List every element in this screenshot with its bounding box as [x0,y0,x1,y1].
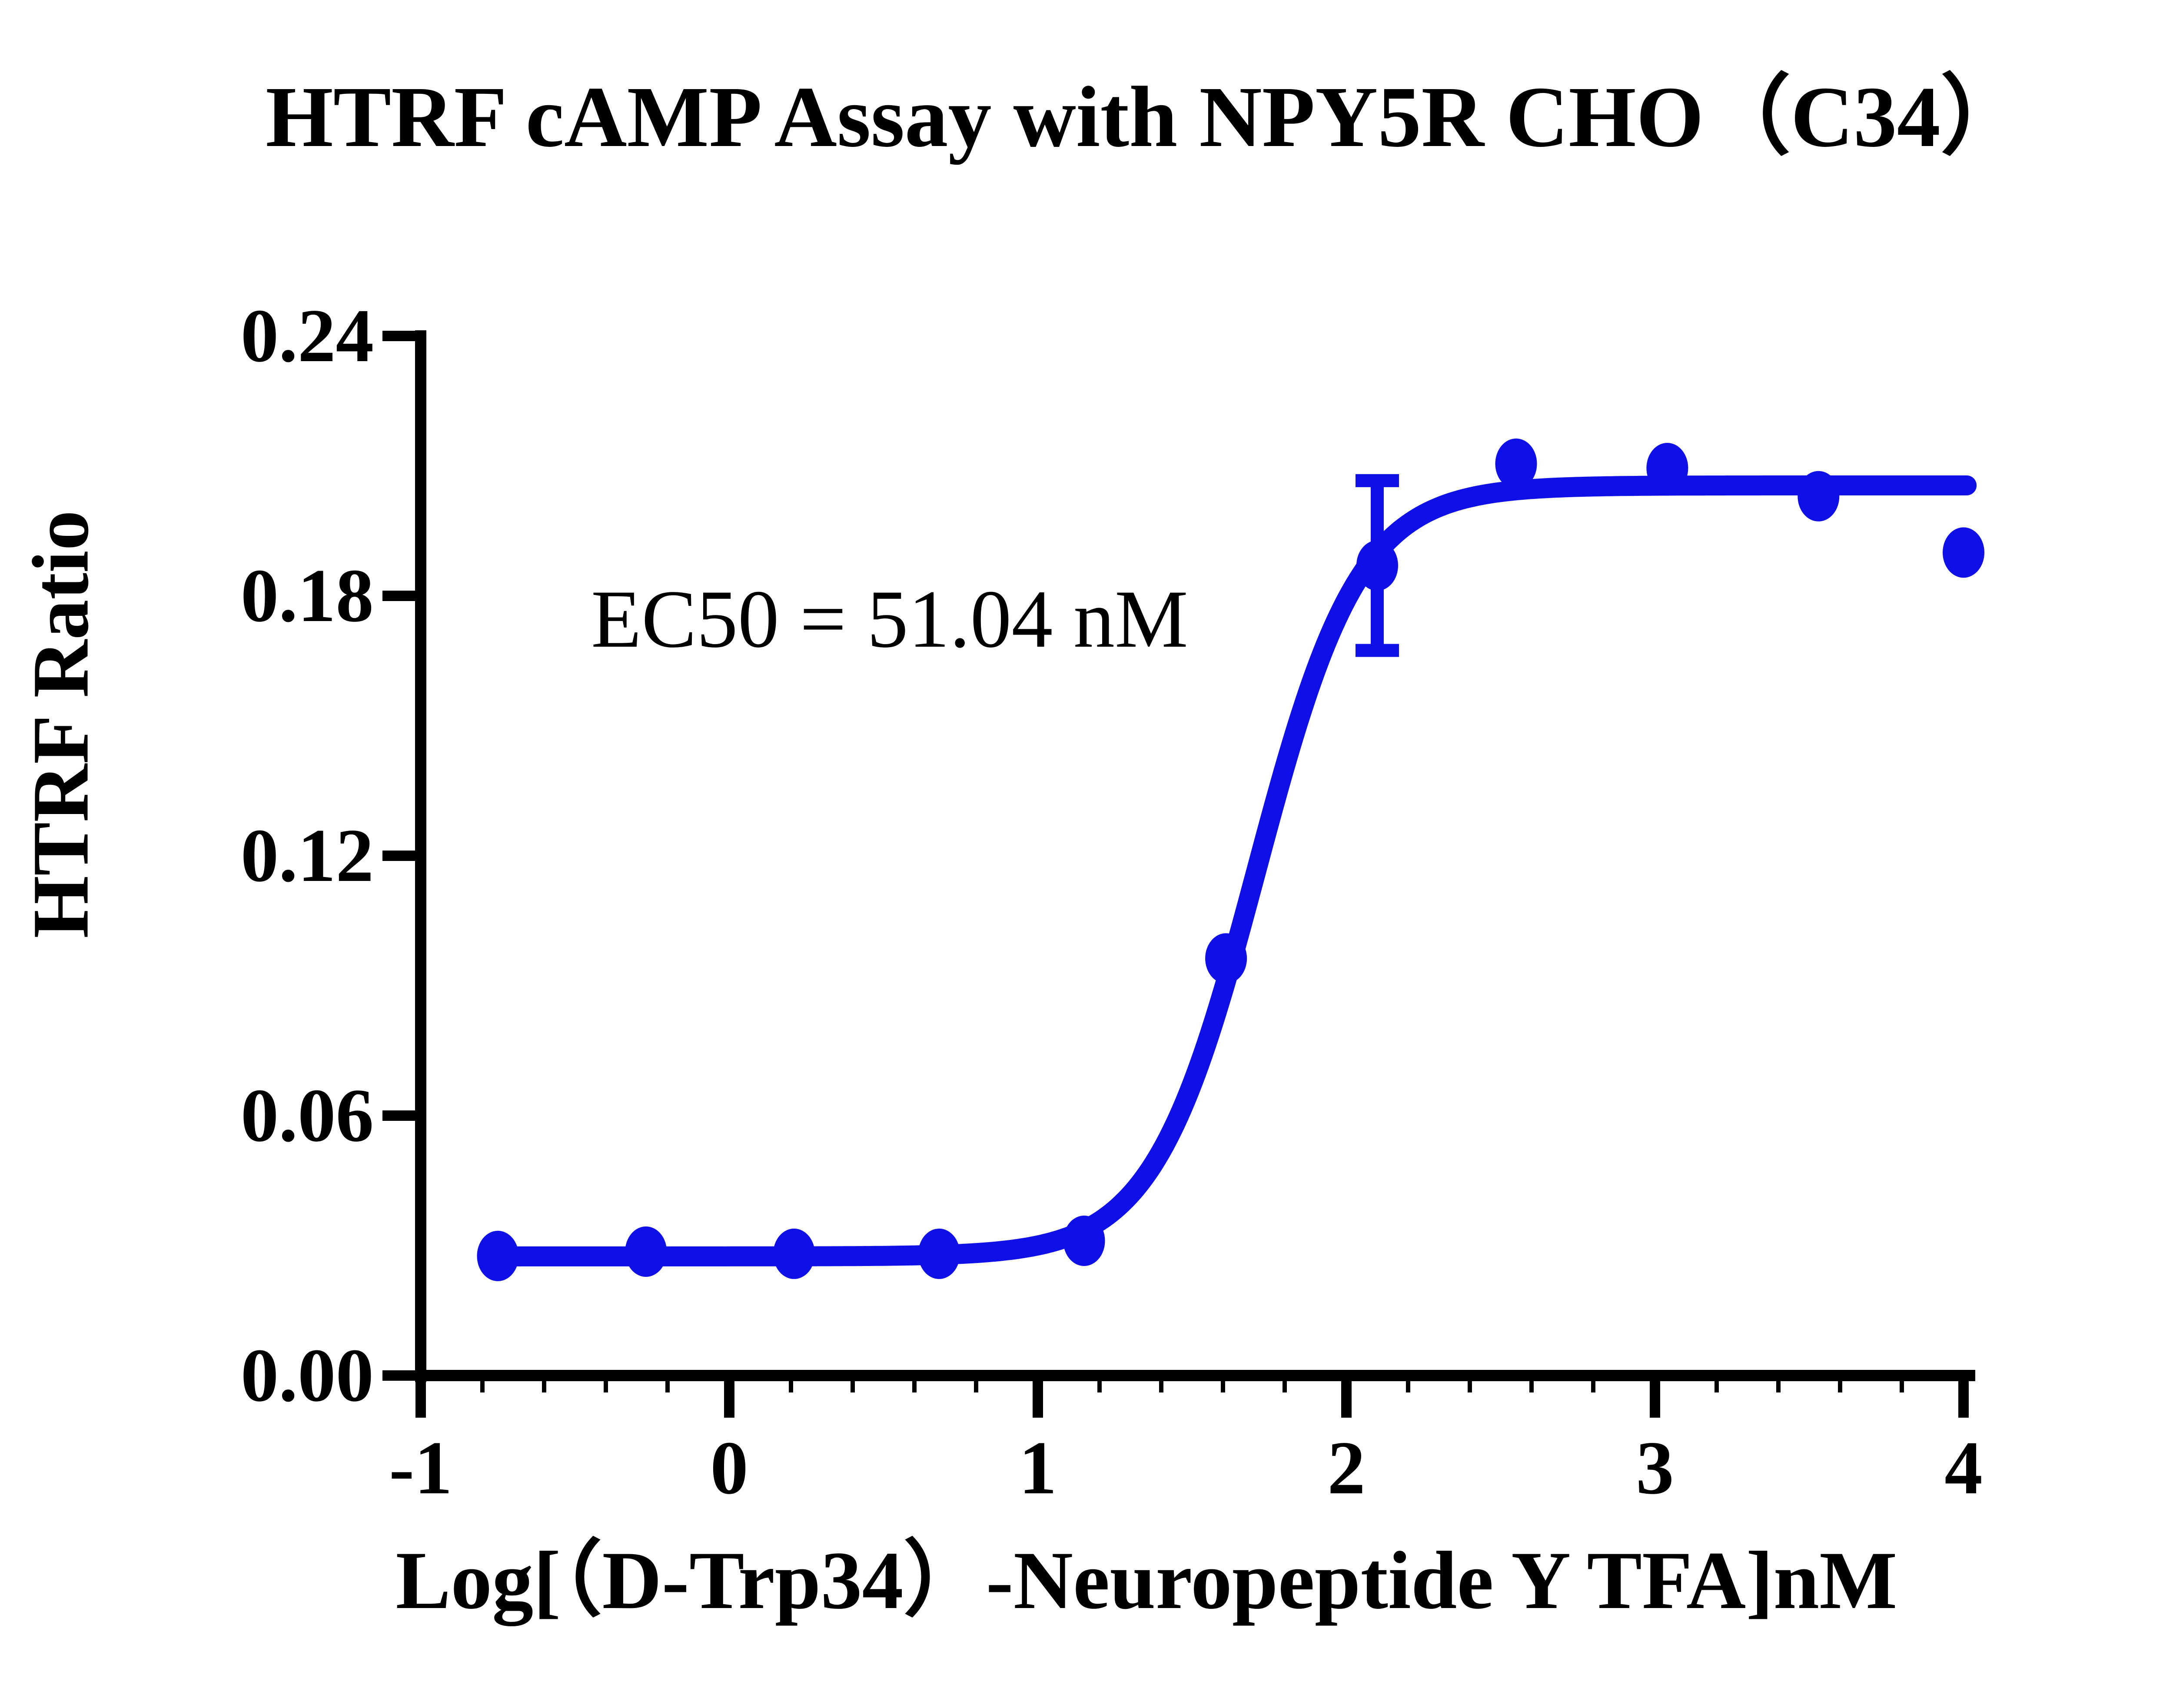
x-tick-0 [724,1380,734,1418]
y-tick-label-4: 0.00 [130,1337,374,1413]
data-point [1798,471,1839,522]
y-tick-0.12 [382,851,416,861]
ec50-annotation: EC50 = 51.04 nM [591,576,1188,663]
data-point [1646,443,1688,493]
y-tick-label-0: 0.24 [130,298,374,374]
data-point [625,1226,667,1277]
x-tick-4 [1958,1380,1969,1418]
x-tick-1 [1033,1380,1043,1418]
data-point [1356,540,1398,591]
y-tick-0.24 [382,331,416,341]
x-axis-title: Log[（D-Trp34）-Neuropeptide Y TFA]nM [0,1512,2173,1632]
data-point [1205,933,1247,984]
y-tick-0.18 [382,591,416,601]
y-axis-line [415,330,426,1382]
x-minor-ticks [480,1381,1904,1392]
x-tick-label-1: 0 [664,1430,794,1506]
y-tick-0.06 [382,1110,416,1121]
x-tick-label-2: 1 [973,1430,1103,1506]
data-point [773,1229,815,1279]
y-tick-label-1: 0.18 [130,558,374,634]
data-point [477,1231,519,1281]
y-axis-title: HTRF Ratio [15,507,107,942]
x-tick-label-4: 3 [1590,1430,1720,1506]
x-tick--1 [415,1380,426,1418]
x-tick-2 [1341,1380,1352,1418]
error-bars [1356,474,1399,657]
data-point [1063,1216,1105,1266]
data-point [918,1229,960,1279]
y-tick-label-3: 0.06 [130,1077,374,1153]
data-markers [477,439,1985,1281]
y-tick-0.00 [382,1370,416,1381]
chart-figure: HTRF cAMP Assay with NPY5R CHO（C34） HTRF… [0,0,2173,1708]
data-point [1495,439,1537,489]
x-tick-3 [1650,1380,1660,1418]
x-tick-label-3: 2 [1281,1430,1412,1506]
x-axis-line [415,1370,1975,1381]
x-tick-label-5: 4 [1898,1430,2029,1506]
data-point [1943,527,1984,578]
x-tick-label-0: -1 [356,1430,486,1506]
y-tick-label-2: 0.12 [130,817,374,894]
chart-title: HTRF cAMP Assay with NPY5R CHO（C34） [0,74,2173,161]
